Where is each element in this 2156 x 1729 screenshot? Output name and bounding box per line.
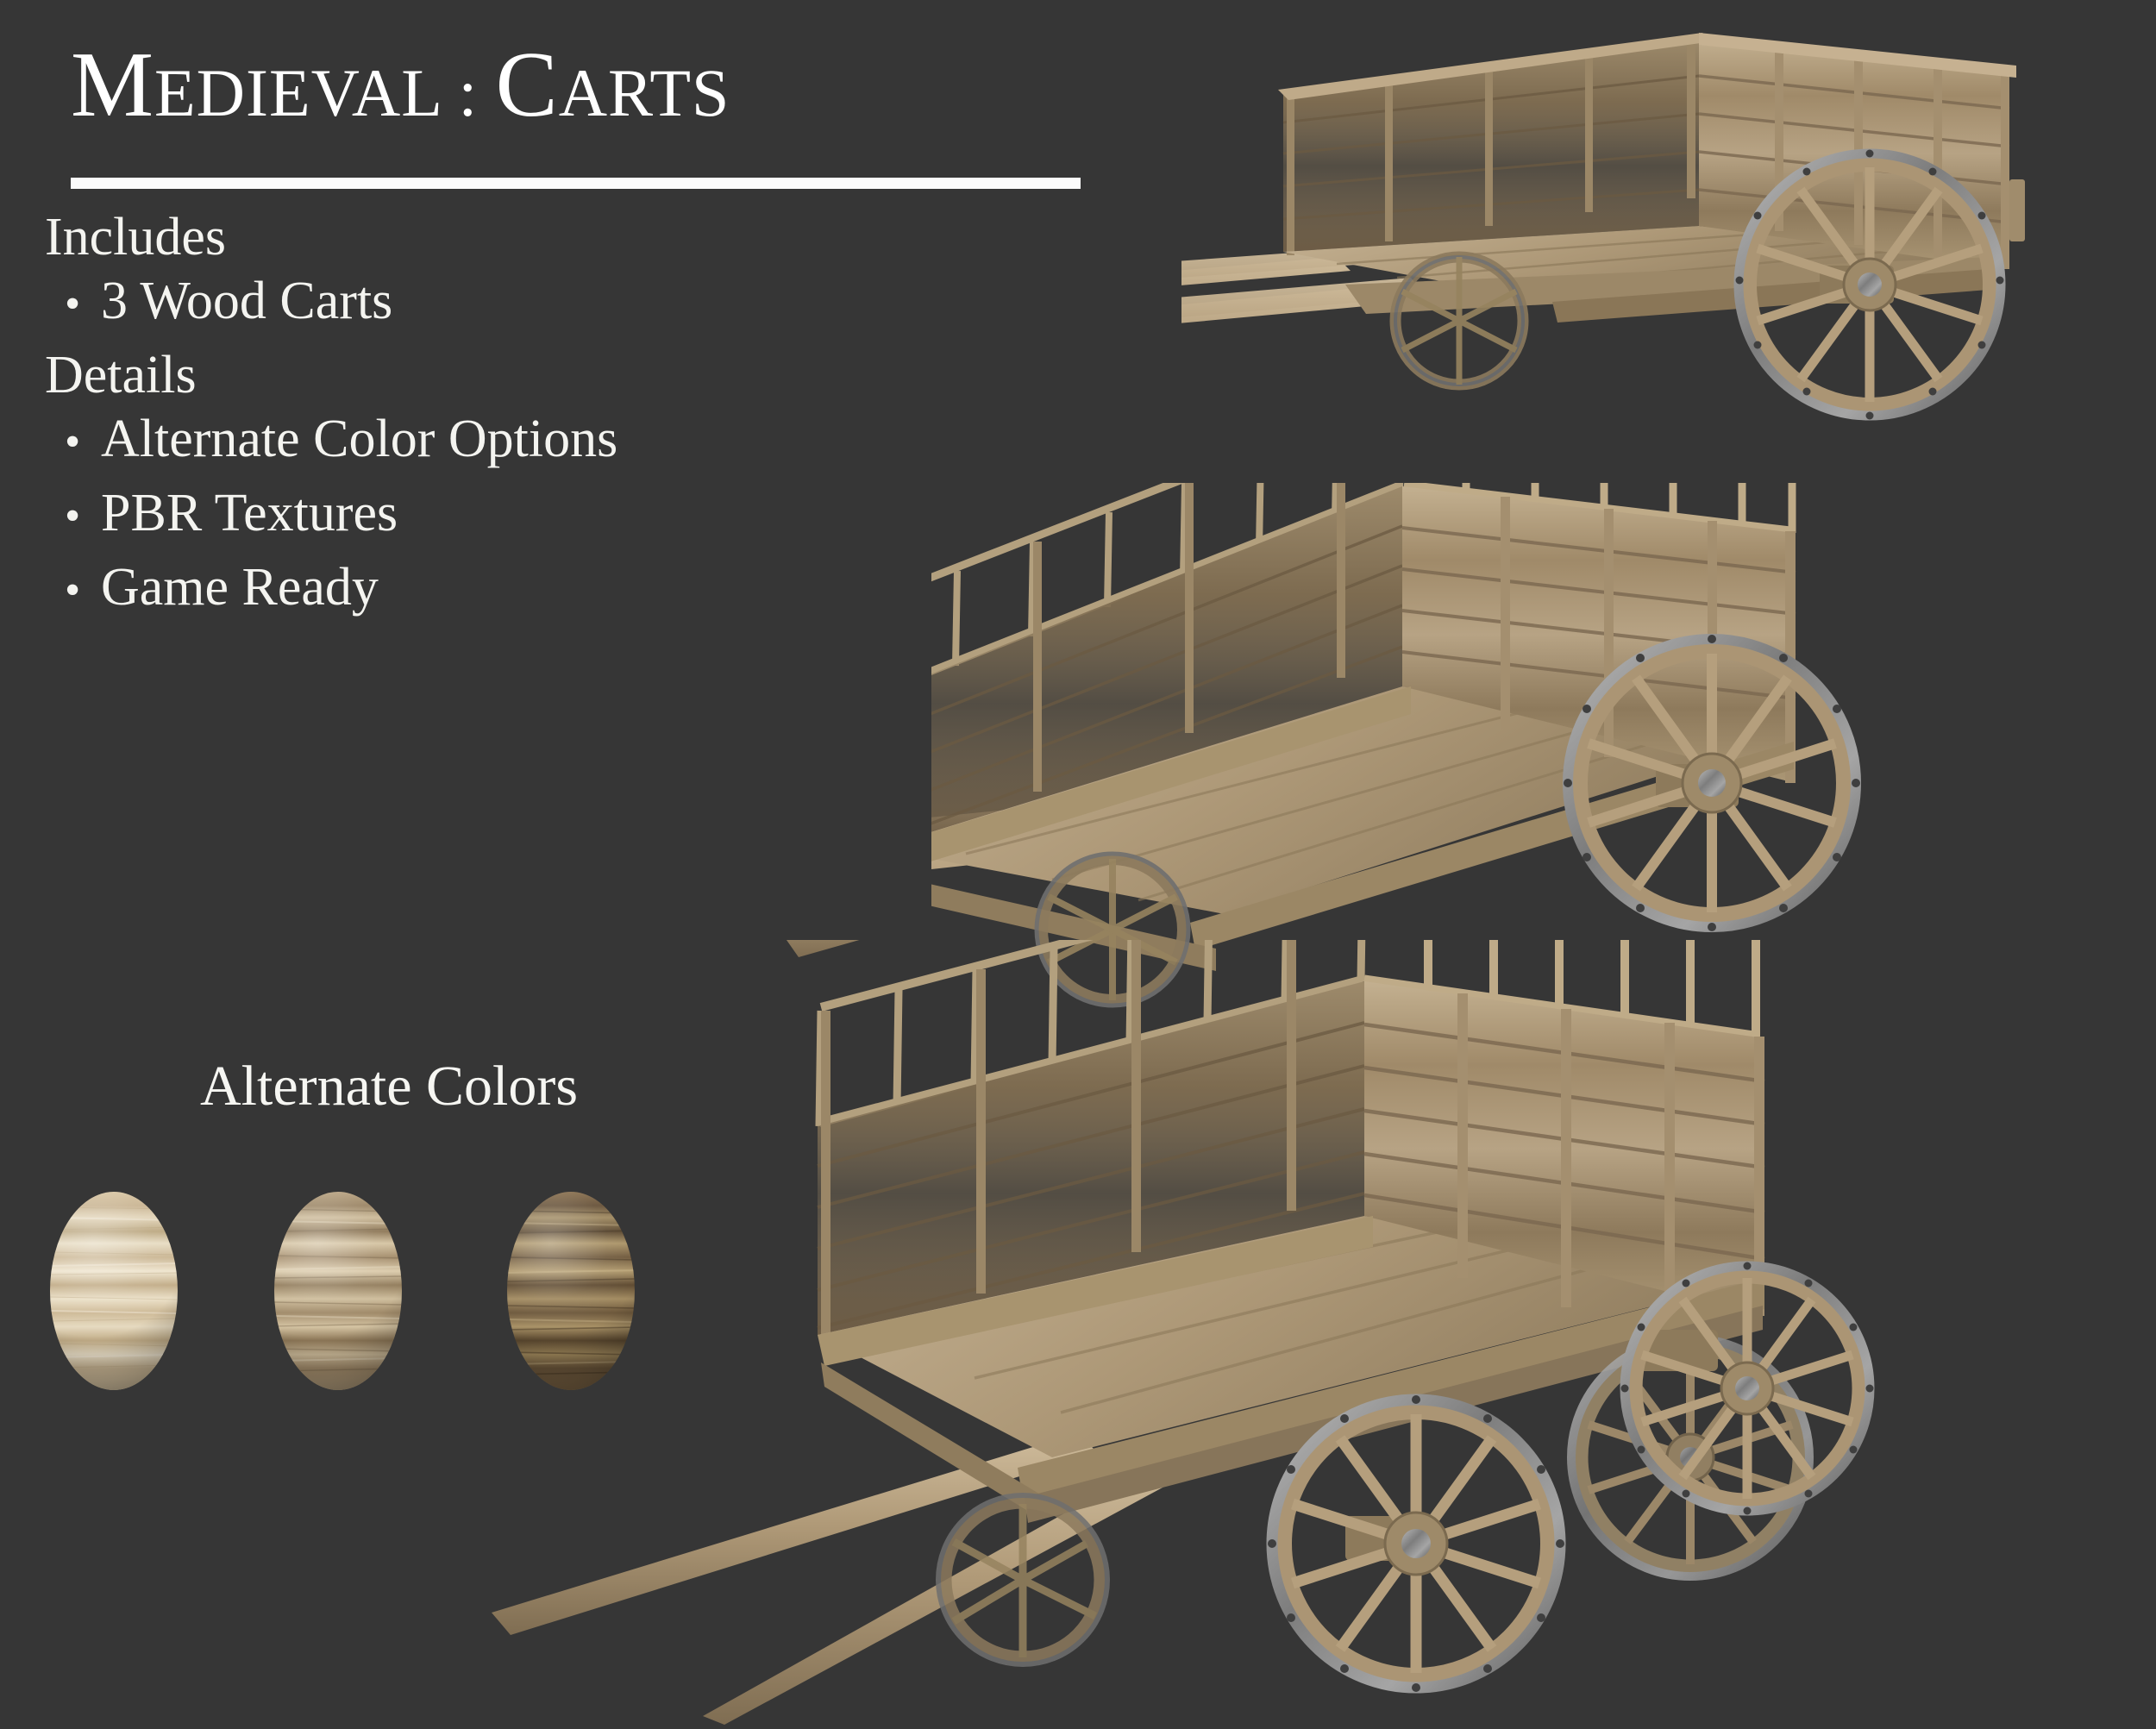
title-underline-rule — [71, 178, 1081, 189]
list-item: • Alternate Color Options — [65, 412, 617, 466]
wagon-wheel-rear-near — [1268, 1395, 1564, 1692]
bullet-icon: • — [65, 568, 101, 613]
cart-preview-four-wheel-railed-wagon — [483, 940, 2156, 1725]
list-item: • 3 Wood Carts — [65, 274, 392, 328]
page-title: MEDIEVAL : CARTS — [71, 39, 730, 132]
sphere-shading-overlay — [274, 1192, 402, 1390]
details-list: • Alternate Color Options • PBR Textures… — [65, 412, 617, 635]
includes-list: • 3 Wood Carts — [65, 274, 392, 328]
color-swatch-light-bleached-wood[interactable] — [50, 1192, 178, 1390]
title-cap-2: C — [496, 34, 559, 136]
list-item-label: PBR Textures — [101, 486, 398, 540]
bullet-icon: • — [65, 282, 101, 327]
list-item: • PBR Textures — [65, 486, 617, 540]
cart-wheel-far — [1395, 257, 1523, 385]
color-swatch-medium-weathered-wood[interactable] — [274, 1192, 402, 1390]
wagon-wheel-front-near — [1621, 1262, 1874, 1515]
title-rest-1: EDIEVAL — [154, 55, 441, 130]
cart-preview-two-wheel-plank-cart — [1181, 26, 2156, 474]
includes-heading: Includes — [45, 207, 226, 268]
list-item: • Game Ready — [65, 561, 617, 614]
title-rest-2: ARTS — [559, 55, 730, 130]
list-item-label: Alternate Color Options — [101, 412, 617, 466]
sphere-shading-overlay — [50, 1192, 178, 1390]
cart-preview-two-wheel-railed-cart — [931, 483, 2156, 1018]
bullet-icon: • — [65, 494, 101, 539]
list-item-label: 3 Wood Carts — [101, 274, 392, 328]
list-item-label: Game Ready — [101, 561, 379, 614]
bullet-icon: • — [65, 420, 101, 465]
details-heading: Details — [45, 345, 197, 406]
title-separator: : — [441, 55, 496, 130]
title-cap-1: M — [71, 34, 154, 136]
